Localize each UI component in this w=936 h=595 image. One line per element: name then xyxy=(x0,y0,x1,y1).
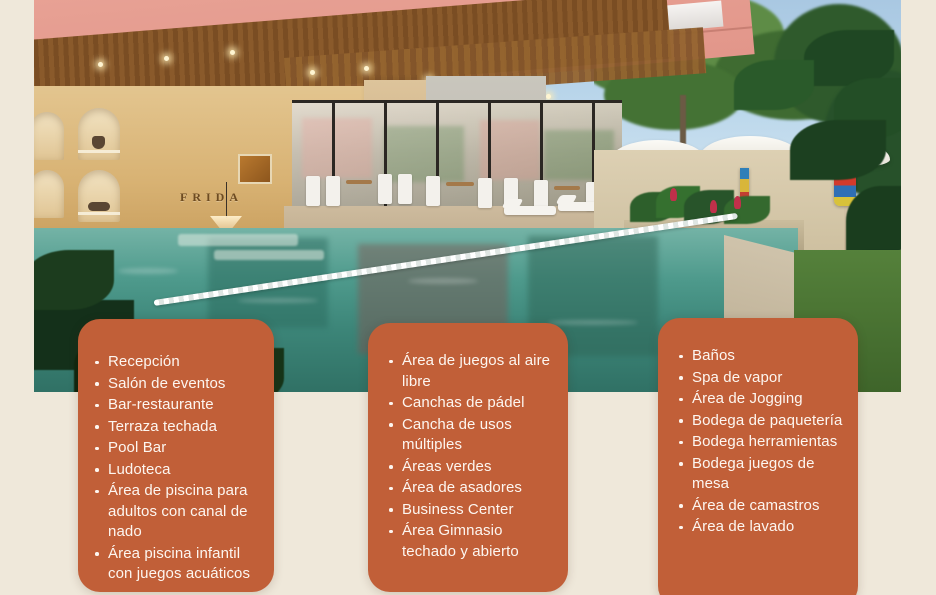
dining-chair xyxy=(306,176,320,206)
artwork-frame xyxy=(238,154,272,184)
list-item: Bodega juegos de mesa xyxy=(676,454,844,495)
list-item: Áreas verdes xyxy=(386,457,554,478)
decor-pot xyxy=(92,136,105,149)
downlight xyxy=(310,70,315,75)
downlight xyxy=(364,66,369,71)
list-item: Terraza techada xyxy=(92,417,260,438)
list-item: Bodega de paquetería xyxy=(676,411,844,432)
amenities-card-3: Baños Spa de vapor Área de Jogging Bodeg… xyxy=(658,318,858,595)
list-item: Pool Bar xyxy=(92,438,260,459)
dining-table xyxy=(554,186,580,190)
palm-frond xyxy=(734,60,814,110)
dining-table xyxy=(446,182,474,186)
dining-chair xyxy=(426,176,440,206)
palm-frond xyxy=(846,186,901,256)
downlight xyxy=(164,56,169,61)
list-item: Salón de eventos xyxy=(92,374,260,395)
wall-niche xyxy=(34,170,64,218)
list-item: Cancha de usos múltiples xyxy=(386,415,554,456)
dining-chair xyxy=(478,178,492,208)
palm-frond xyxy=(790,120,886,180)
tropical-flower xyxy=(710,200,717,213)
list-item: Business Center xyxy=(386,500,554,521)
downlight xyxy=(230,50,235,55)
wall-niche xyxy=(34,112,64,160)
amenities-list-3: Baños Spa de vapor Área de Jogging Bodeg… xyxy=(676,346,844,538)
tropical-flower xyxy=(734,196,741,209)
dining-chair xyxy=(326,176,340,206)
amenities-list-1: Recepción Salón de eventos Bar-restauran… xyxy=(92,352,260,585)
list-item: Spa de vapor xyxy=(676,368,844,389)
list-item: Ludoteca xyxy=(92,460,260,481)
amenities-card-2: Área de juegos al aire libre Canchas de … xyxy=(368,323,568,592)
list-item: Bar-restaurante xyxy=(92,395,260,416)
downlight xyxy=(98,62,103,67)
dining-chair xyxy=(398,174,412,204)
amenities-card-1: Recepción Salón de eventos Bar-restauran… xyxy=(78,319,274,592)
list-item: Recepción xyxy=(92,352,260,373)
list-item: Canchas de pádel xyxy=(386,393,554,414)
tropical-flower xyxy=(670,188,677,201)
dining-chair xyxy=(378,174,392,204)
list-item: Bodega herramientas xyxy=(676,432,844,453)
page-root: FRIDA xyxy=(0,0,936,595)
list-item: Área piscina infantil con juegos acuátic… xyxy=(92,544,260,585)
frida-signage: FRIDA xyxy=(180,190,243,205)
list-item: Área Gimnasio techado y abierto xyxy=(386,521,554,562)
list-item: Área de piscina para adultos con canal d… xyxy=(92,481,260,543)
list-item: Área de Jogging xyxy=(676,389,844,410)
sun-lounger xyxy=(504,206,556,215)
list-item: Área de lavado xyxy=(676,517,844,538)
list-item: Área de juegos al aire libre xyxy=(386,351,554,392)
amenities-list-2: Área de juegos al aire libre Canchas de … xyxy=(386,351,554,562)
list-item: Área de camastros xyxy=(676,496,844,517)
list-item: Área de asadores xyxy=(386,478,554,499)
dining-table xyxy=(346,180,372,184)
downlight xyxy=(546,94,551,99)
list-item: Baños xyxy=(676,346,844,367)
decor-pot xyxy=(88,202,110,211)
